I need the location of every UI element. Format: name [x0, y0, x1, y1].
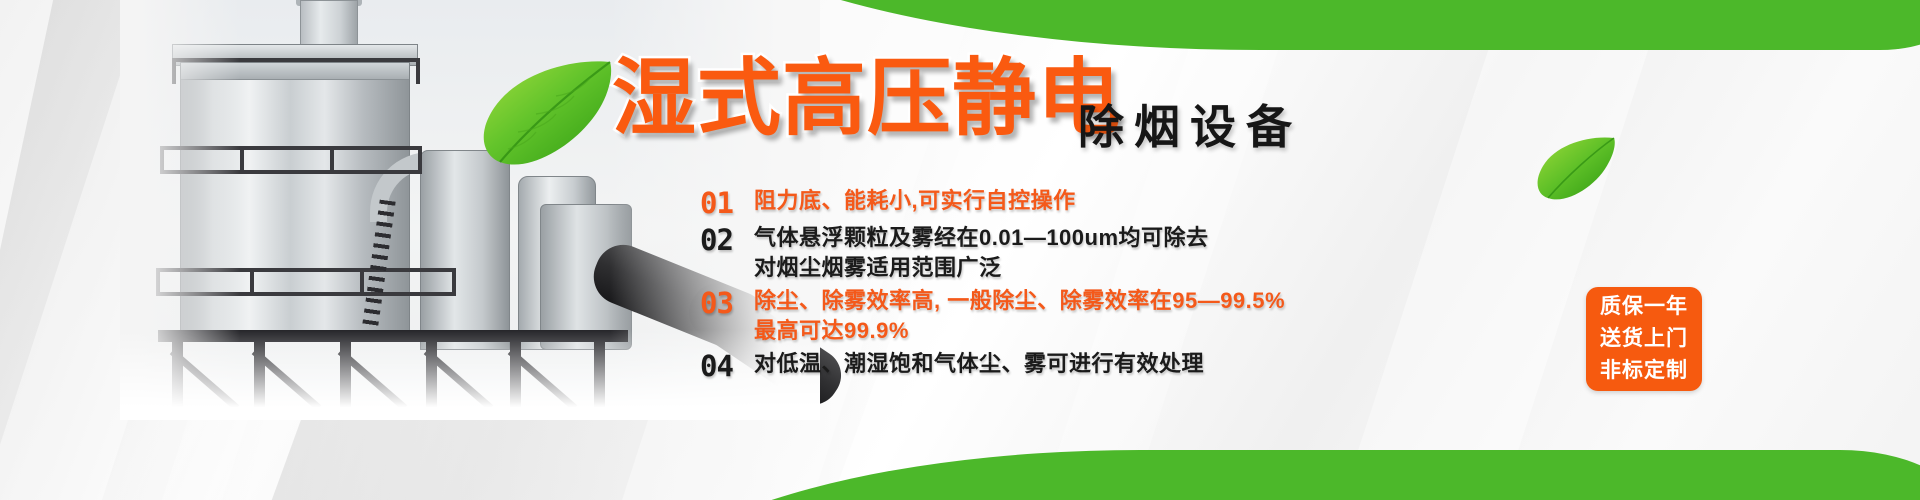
- railing: [452, 268, 456, 296]
- railing: [416, 58, 420, 84]
- feature-text: 除尘、除雾效率高, 一般除尘、除雾效率在95—99.5% 最高可达99.9%: [754, 286, 1285, 346]
- feature-number: 02: [700, 223, 754, 257]
- railing: [240, 146, 244, 174]
- list-item: 01 阻力底、能耗小,可实行自控操作: [700, 186, 1320, 220]
- list-item: 03 除尘、除雾效率高, 一般除尘、除雾效率在95—99.5% 最高可达99.9…: [700, 286, 1320, 346]
- railing: [330, 146, 334, 174]
- railing: [418, 146, 422, 174]
- badge-line: 送货上门: [1600, 323, 1688, 355]
- green-curve-top: [640, 0, 1920, 50]
- list-item: 02 气体悬浮颗粒及雾经在0.01—100um均可除去 对烟尘烟雾适用范围广泛: [700, 223, 1320, 283]
- feature-text: 气体悬浮颗粒及雾经在0.01—100um均可除去 对烟尘烟雾适用范围广泛: [754, 223, 1209, 283]
- feature-number: 01: [700, 186, 754, 220]
- guarantee-badge[interactable]: 质保一年 送货上门 非标定制: [1586, 287, 1702, 391]
- feature-line: 对烟尘烟雾适用范围广泛: [754, 253, 1209, 283]
- feature-number: 03: [700, 286, 754, 320]
- feature-number: 04: [700, 349, 754, 383]
- list-item: 04 对低温、潮湿饱和气体尘、雾可进行有效处理: [700, 349, 1320, 383]
- promo-banner: 湿式高压静电 除烟设备 01 阻力底、能耗小,可实行自控操作 02 气体悬浮颗粒…: [0, 0, 1920, 500]
- page-subtitle: 除烟设备: [1078, 104, 1302, 150]
- railing: [250, 268, 254, 296]
- feature-text: 对低温、潮湿饱和气体尘、雾可进行有效处理: [754, 349, 1204, 379]
- light-streak: [1316, 0, 1684, 500]
- headline-group: 湿式高压静电: [612, 56, 1122, 140]
- feature-line: 最高可达99.9%: [754, 316, 1285, 346]
- railing: [360, 268, 364, 296]
- feature-line: 除尘、除雾效率高, 一般除尘、除雾效率在95—99.5%: [754, 286, 1285, 316]
- badge-line: 质保一年: [1600, 291, 1688, 323]
- feature-text: 阻力底、能耗小,可实行自控操作: [754, 186, 1076, 216]
- badge-line: 非标定制: [1600, 355, 1688, 387]
- feature-line: 气体悬浮颗粒及雾经在0.01—100um均可除去: [754, 223, 1209, 253]
- page-title: 湿式高压静电: [612, 56, 1122, 140]
- vertical-tank: [420, 150, 510, 350]
- feature-line: 对低温、潮湿饱和气体尘、雾可进行有效处理: [754, 349, 1204, 379]
- feature-line: 阻力底、能耗小,可实行自控操作: [754, 186, 1076, 216]
- feature-list: 01 阻力底、能耗小,可实行自控操作 02 气体悬浮颗粒及雾经在0.01—100…: [700, 186, 1320, 386]
- leaf-icon: [1534, 134, 1620, 200]
